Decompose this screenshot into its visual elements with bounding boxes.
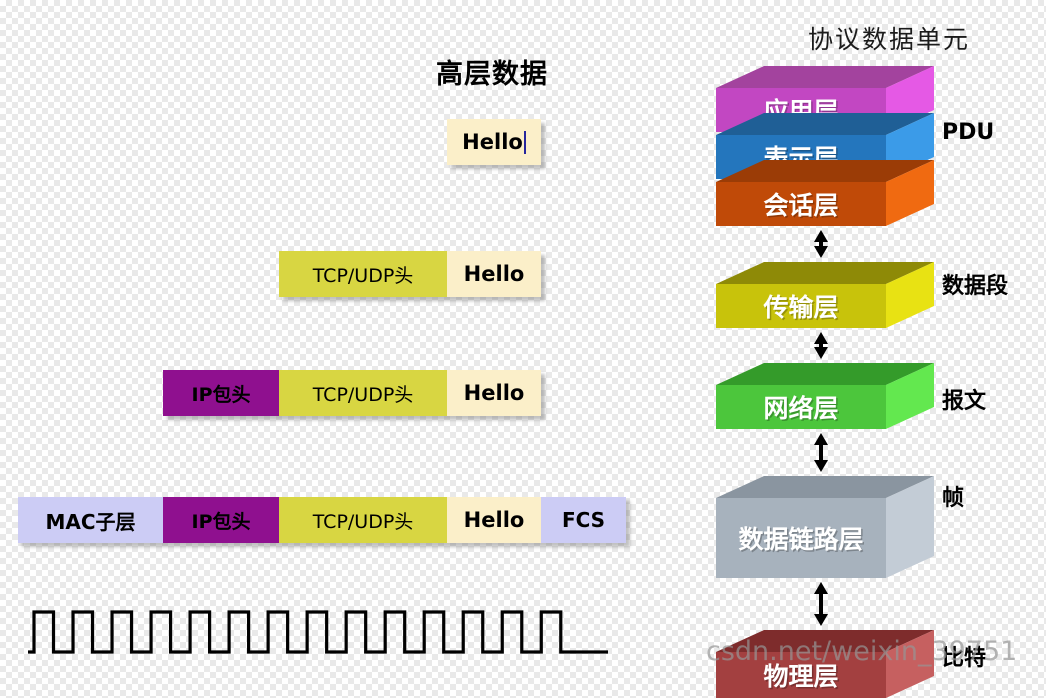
pdu-cell-label: Hello (464, 262, 525, 286)
transport-layer: 传输层 (716, 262, 934, 328)
pdu-cell-label: IP包头 (192, 380, 251, 407)
datalink-layer-label: 数据链路层 (738, 520, 863, 556)
session-layer-label: 会话层 (763, 186, 838, 222)
physical-layer-label: 物理层 (763, 657, 838, 693)
physical-signal-waveform (28, 600, 608, 660)
physical-layer-front-face: 物理层 (716, 652, 886, 698)
session-layer-front-face: 会话层 (716, 182, 886, 226)
session-layer: 会话层 (716, 160, 934, 226)
pdu-cell-label: IP包头 (192, 507, 251, 534)
pdu-cell-label: Hello (464, 508, 525, 532)
arrow-path (814, 332, 828, 359)
packet-label: 报文 (942, 383, 986, 415)
bidirectional-arrow (810, 433, 832, 472)
pdu-title: 协议数据单元 (808, 20, 970, 56)
pdu-cell-hello: Hello (447, 251, 541, 297)
pdu-cell-label: MAC子层 (45, 506, 135, 535)
arrow-path (814, 582, 828, 626)
arrow-path (814, 433, 828, 472)
application-data-row: Hello (447, 119, 541, 165)
pdu-label: PDU (942, 120, 994, 145)
pdu-cell-fcs: FCS (541, 497, 626, 543)
bidirectional-arrow (810, 230, 832, 258)
pdu-cell-hello: Hello (447, 119, 541, 165)
pdu-cell-label: TCP/UDP头 (313, 380, 414, 407)
pdu-cell-label: TCP/UDP头 (313, 261, 414, 288)
datalink-layer: 数据链路层 (716, 476, 934, 578)
network-layer: 网络层 (716, 363, 934, 429)
bit-label: 比特 (942, 640, 986, 672)
upper-layer-data-title: 高层数据 (436, 52, 548, 91)
datalink-layer-front-face: 数据链路层 (716, 498, 886, 578)
transport-layer-front-face: 传输层 (716, 284, 886, 328)
bidirectional-arrow (810, 332, 832, 359)
network-layer-label: 网络层 (763, 389, 838, 425)
pdu-cell-hello: Hello (447, 370, 541, 416)
network-layer-front-face: 网络层 (716, 385, 886, 429)
text-cursor (524, 131, 526, 154)
datalink-frame-row: MAC子层IP包头TCP/UDP头HelloFCS (18, 497, 626, 543)
pdu-cell-label: Hello (462, 130, 523, 154)
pdu-cell-label: FCS (562, 508, 605, 532)
pdu-cell-mac: MAC子层 (18, 497, 163, 543)
pdu-cell-label: Hello (464, 381, 525, 405)
transport-layer-label: 传输层 (763, 288, 838, 324)
pdu-cell-hello: Hello (447, 497, 541, 543)
waveform-path (28, 612, 608, 652)
transport-segment-row: TCP/UDP头Hello (279, 251, 541, 297)
arrow-path (814, 230, 828, 258)
pdu-cell-tcp: TCP/UDP头 (279, 370, 447, 416)
pdu-cell-ip: IP包头 (163, 370, 279, 416)
pdu-cell-ip: IP包头 (163, 497, 279, 543)
pdu-cell-tcp: TCP/UDP头 (279, 251, 447, 297)
pdu-cell-label: TCP/UDP头 (313, 507, 414, 534)
frame-label: 帧 (942, 480, 964, 512)
network-packet-row: IP包头TCP/UDP头Hello (163, 370, 541, 416)
segment-label: 数据段 (942, 268, 1008, 300)
bidirectional-arrow (810, 582, 832, 626)
pdu-cell-tcp: TCP/UDP头 (279, 497, 447, 543)
physical-layer: 物理层 (716, 630, 934, 698)
